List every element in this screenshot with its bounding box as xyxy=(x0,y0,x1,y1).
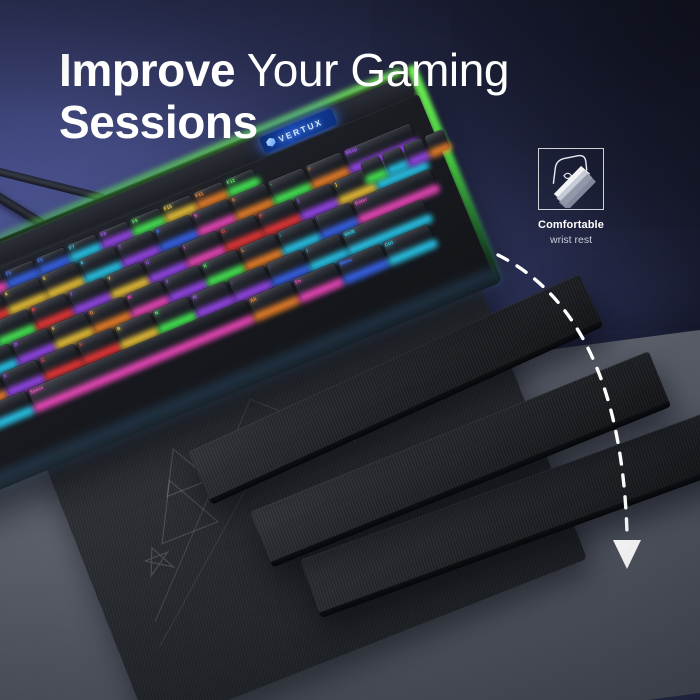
headline-bold-2: Sessions xyxy=(59,96,659,148)
page-title: Improve Your Gaming Sessions xyxy=(59,44,659,148)
callout-subtitle: wrist rest xyxy=(515,234,627,246)
callout-comfortable-wrist-rest: Comfortable wrist rest xyxy=(515,148,627,246)
wrist-rest-icon-glyph xyxy=(540,149,603,208)
wrist-rest-icon xyxy=(538,148,604,210)
headline-bold-1: Improve xyxy=(59,44,235,96)
headline-light: Your Gaming xyxy=(235,44,509,96)
product-marketing-banner: VERTUX EscF1F2F3F4F5F6F7F8F9F10F11F12~12… xyxy=(0,0,700,700)
callout-title: Comfortable xyxy=(515,219,627,231)
